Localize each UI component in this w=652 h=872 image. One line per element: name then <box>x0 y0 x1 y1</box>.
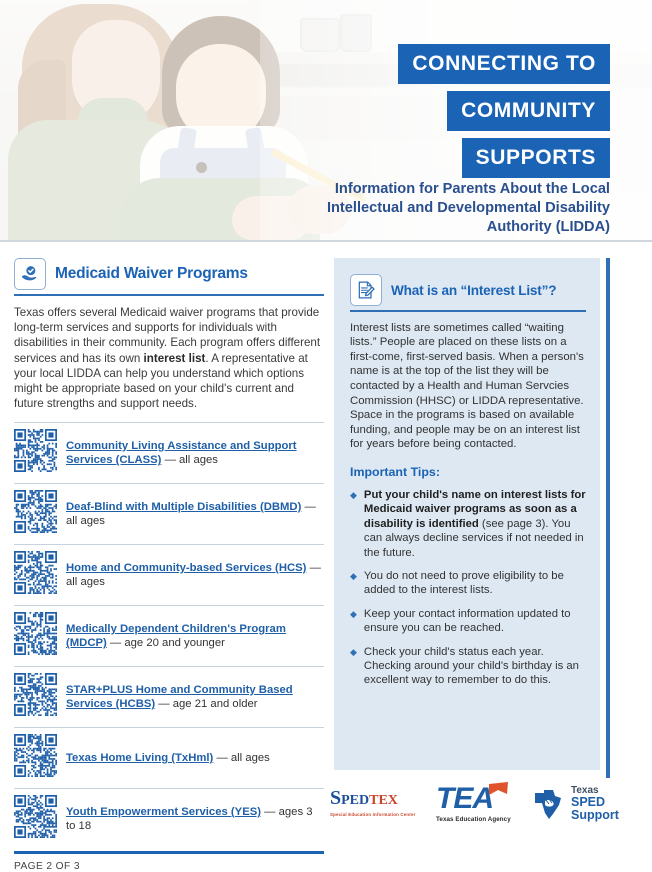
qr-code-dbmd-icon[interactable] <box>14 490 57 538</box>
program-age: — all ages <box>161 454 218 466</box>
medicaid-section-header: Medicaid Waiver Programs <box>14 258 324 290</box>
medicaid-intro-text: Texas offers several Medicaid waiver pro… <box>14 305 324 411</box>
program-age: — age 20 and younger <box>107 637 225 649</box>
document-with-pencil-icon <box>350 274 382 306</box>
program-row[interactable]: Deaf-Blind with Multiple Disabilities (D… <box>14 483 324 544</box>
texas-state-icon <box>532 788 566 820</box>
qr-code-class-icon[interactable] <box>14 429 57 477</box>
spedtex-subtitle: Special Education Information Center <box>330 812 416 817</box>
program-row[interactable]: STAR+PLUS Home and Community Based Servi… <box>14 666 324 727</box>
tip-item: ◆Keep your contact information updated t… <box>350 607 586 636</box>
interest-list-title: What is an “Interest List”? <box>391 283 556 298</box>
tip-text: Check your child's status each year. Che… <box>364 645 586 688</box>
program-row[interactable]: Youth Empowerment Services (YES) — ages … <box>14 788 324 849</box>
tip-rest: You do not need to prove eligibility to … <box>364 570 564 596</box>
program-link[interactable]: Home and Community-based Services (HCS) <box>66 562 306 574</box>
program-row[interactable]: Texas Home Living (TxHml) — all ages <box>14 727 324 788</box>
tip-rest: Keep your contact information updated to… <box>364 608 571 634</box>
tea-flag-icon <box>486 781 512 805</box>
medicaid-section-title: Medicaid Waiver Programs <box>55 265 248 283</box>
qr-code-mdcp-icon[interactable] <box>14 612 57 660</box>
tip-text: Keep your contact information updated to… <box>364 607 586 636</box>
tip-item: ◆Check your child's status each year. Ch… <box>350 645 586 688</box>
program-age: — age 21 and older <box>155 698 257 710</box>
program-link[interactable]: Deaf-Blind with Multiple Disabilities (D… <box>66 501 301 513</box>
program-text: Texas Home Living (TxHml) — all ages <box>66 751 270 766</box>
program-text: STAR+PLUS Home and Community Based Servi… <box>66 683 324 712</box>
qr-code-yes-icon[interactable] <box>14 795 57 843</box>
important-tips-title: Important Tips: <box>350 465 586 479</box>
bullet-diamond-icon: ◆ <box>350 645 357 688</box>
program-link[interactable]: Youth Empowerment Services (YES) <box>66 806 261 818</box>
spedtex-s: S <box>330 787 341 809</box>
tip-text: You do not need to prove eligibility to … <box>364 569 586 598</box>
tea-subtitle: Texas Education Agency <box>436 816 511 823</box>
spedtex-tex: TEX <box>369 793 398 808</box>
program-age: — all ages <box>213 752 270 764</box>
program-row[interactable]: Medically Dependent Children's Program (… <box>14 605 324 666</box>
tip-text: Put your child's name on interest lists … <box>364 488 586 560</box>
tea-wordmark: TEA <box>436 782 493 815</box>
program-text: Deaf-Blind with Multiple Disabilities (D… <box>66 500 324 529</box>
spedtex-ped: PED <box>341 793 369 808</box>
bullet-diamond-icon: ◆ <box>350 488 357 560</box>
hand-with-check-icon <box>14 258 46 290</box>
banner-subtitle: Information for Parents About the Local … <box>270 180 610 237</box>
logo-row: SPEDTEX Special Education Information Ce… <box>326 782 646 836</box>
page-number: PAGE 2 OF 3 <box>14 861 324 872</box>
interest-list-rule <box>350 310 586 312</box>
tip-rest: Check your child's status each year. Che… <box>364 646 579 687</box>
tips-list: ◆Put your child's name on interest lists… <box>350 488 586 688</box>
interest-list-body: Interest lists are sometimes called “wai… <box>350 321 586 452</box>
bullet-diamond-icon: ◆ <box>350 607 357 636</box>
program-row[interactable]: Community Living Assistance and Support … <box>14 422 324 483</box>
tss-line-3: Support <box>571 809 619 822</box>
tea-logo: TEA Texas Education Agency <box>436 784 511 823</box>
title-line-3: SUPPORTS <box>462 138 610 178</box>
spedtex-logo: SPEDTEX Special Education Information Ce… <box>330 788 416 817</box>
qr-code-txhml-icon[interactable] <box>14 734 57 782</box>
texas-sped-support-logo: Texas SPED Support <box>532 786 619 822</box>
title-line-1: CONNECTING TO <box>398 44 610 84</box>
interest-list-panel: What is an “Interest List”? Interest lis… <box>334 258 600 770</box>
program-link[interactable]: Texas Home Living (TxHml) <box>66 752 213 764</box>
left-column: Medicaid Waiver Programs Texas offers se… <box>14 258 324 872</box>
right-accent-bar <box>606 258 610 778</box>
title-line-2: COMMUNITY <box>447 91 610 131</box>
qr-code-hcbs-icon[interactable] <box>14 673 57 721</box>
tip-item: ◆You do not need to prove eligibility to… <box>350 569 586 598</box>
program-text: Community Living Assistance and Support … <box>66 439 324 468</box>
program-text: Home and Community-based Services (HCS) … <box>66 561 324 590</box>
intro-bold-term: interest list <box>144 352 206 365</box>
banner-title: CONNECTING TO COMMUNITY SUPPORTS <box>398 44 610 185</box>
bullet-diamond-icon: ◆ <box>350 569 357 598</box>
program-text: Medically Dependent Children's Program (… <box>66 622 324 651</box>
program-list: Community Living Assistance and Support … <box>14 422 324 849</box>
qr-code-hcs-icon[interactable] <box>14 551 57 599</box>
header-divider <box>0 240 652 242</box>
program-text: Youth Empowerment Services (YES) — ages … <box>66 805 324 834</box>
program-row[interactable]: Home and Community-based Services (HCS) … <box>14 544 324 605</box>
interest-list-header: What is an “Interest List”? <box>350 274 586 306</box>
tip-item: ◆Put your child's name on interest lists… <box>350 488 586 560</box>
medicaid-section-rule <box>14 294 324 296</box>
